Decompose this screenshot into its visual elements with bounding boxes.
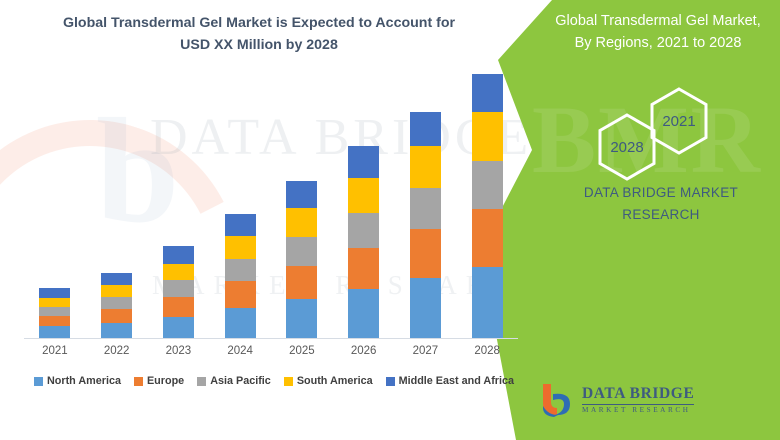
stacked-bar-2024 [225, 214, 256, 338]
legend-item[interactable]: Asia Pacific [197, 375, 271, 387]
hexagon-badge-2028: 2028 [596, 112, 658, 182]
bar-segment [286, 181, 317, 208]
legend-item[interactable]: Middle East and Africa [386, 375, 514, 387]
bar-segment [410, 188, 441, 229]
x-axis-label-2027: 2027 [403, 345, 447, 357]
bar-segment [286, 237, 317, 266]
bar-segment [225, 214, 256, 236]
bar-segment [163, 280, 194, 297]
bar-column [342, 60, 386, 338]
bar-segment [286, 208, 317, 237]
data-bridge-logo-mark [540, 382, 574, 418]
bar-segment [286, 299, 317, 338]
panel-title-line-2: By Regions, 2021 to 2028 [540, 32, 776, 54]
logo-sub-text: MARKET RESEARCH [582, 407, 694, 415]
bar-segment [39, 298, 70, 307]
bar-segment [472, 209, 503, 267]
x-axis-label-2022: 2022 [95, 345, 139, 357]
bar-segment [101, 309, 132, 323]
x-axis-line [24, 338, 518, 339]
bar-segment [286, 266, 317, 300]
bar-series-container [24, 60, 518, 338]
x-axis-label-2028: 2028 [465, 345, 509, 357]
x-axis-label-2023: 2023 [156, 345, 200, 357]
bar-segment [225, 308, 256, 338]
stacked-bar-2025 [286, 181, 317, 338]
bar-column [95, 60, 139, 338]
headline-line-2: USD XX Million by 2028 [44, 34, 474, 56]
bar-segment [472, 112, 503, 162]
stacked-bar-2026 [348, 146, 379, 338]
bar-column [280, 60, 324, 338]
x-axis-labels: 20212022202320242025202620272028 [24, 345, 518, 357]
panel-title: Global Transdermal Gel Market, By Region… [540, 10, 776, 55]
bar-segment [163, 297, 194, 317]
bar-segment [410, 146, 441, 188]
bar-column [156, 60, 200, 338]
bar-column [465, 60, 509, 338]
bar-segment [348, 146, 379, 178]
bar-segment [163, 317, 194, 338]
stacked-bar-2021 [39, 288, 70, 338]
bar-segment [410, 229, 441, 279]
bar-segment [348, 248, 379, 290]
bar-segment [163, 246, 194, 264]
bar-segment [225, 281, 256, 308]
bar-segment [410, 278, 441, 338]
bar-segment [39, 288, 70, 298]
bar-segment [101, 285, 132, 297]
bar-segment [39, 316, 70, 326]
legend-swatch [284, 377, 293, 386]
chart-legend: North AmericaEuropeAsia PacificSouth Ame… [24, 375, 524, 387]
bar-column [403, 60, 447, 338]
hexagon-badge-2028-label: 2028 [610, 139, 643, 156]
legend-swatch [197, 377, 206, 386]
data-bridge-logo: DATA BRIDGE MARKET RESEARCH [540, 382, 694, 418]
x-axis-label-2026: 2026 [342, 345, 386, 357]
stacked-bar-chart: 20212022202320242025202620272028 North A… [0, 60, 540, 350]
bar-column [218, 60, 262, 338]
bar-segment [472, 74, 503, 112]
legend-swatch [386, 377, 395, 386]
bar-segment [472, 267, 503, 338]
legend-swatch [134, 377, 143, 386]
bar-segment [225, 236, 256, 259]
x-axis-label-2025: 2025 [280, 345, 324, 357]
bar-segment [101, 323, 132, 338]
headline-line-1: Global Transdermal Gel Market is Expecte… [44, 12, 474, 34]
bar-segment [472, 161, 503, 209]
legend-label: South America [297, 375, 373, 387]
legend-swatch [34, 377, 43, 386]
legend-item[interactable]: North America [34, 375, 121, 387]
stacked-bar-2023 [163, 246, 194, 338]
bar-segment [101, 297, 132, 309]
infographic-page: b DATA BRIDGE MARKET RESEARCH DBMR Globa… [0, 0, 780, 440]
legend-label: North America [47, 375, 121, 387]
stacked-bar-2022 [101, 273, 132, 339]
panel-brand-line-2: RESEARCH [556, 204, 766, 226]
x-axis-label-2021: 2021 [33, 345, 77, 357]
legend-item[interactable]: Europe [134, 375, 184, 387]
bar-segment [410, 112, 441, 147]
logo-main-text: DATA BRIDGE [582, 386, 694, 405]
bar-segment [348, 213, 379, 248]
legend-label: Europe [147, 375, 184, 387]
stacked-bar-2027 [410, 112, 441, 338]
bar-column [33, 60, 77, 338]
bar-segment [39, 326, 70, 338]
bar-segment [225, 259, 256, 282]
hexagon-badge-2021-label: 2021 [662, 113, 695, 130]
bar-segment [348, 289, 379, 338]
panel-brand-text: DATA BRIDGE MARKET RESEARCH [556, 182, 766, 225]
bar-segment [39, 307, 70, 316]
headline: Global Transdermal Gel Market is Expecte… [44, 12, 474, 56]
panel-brand-line-1: DATA BRIDGE MARKET [556, 182, 766, 204]
legend-item[interactable]: South America [284, 375, 373, 387]
bar-segment [163, 264, 194, 281]
panel-title-line-1: Global Transdermal Gel Market, [540, 10, 776, 32]
bar-segment [101, 273, 132, 286]
bar-segment [348, 178, 379, 213]
stacked-bar-2028 [472, 74, 503, 338]
legend-label: Asia Pacific [210, 375, 271, 387]
x-axis-label-2024: 2024 [218, 345, 262, 357]
data-bridge-logo-text: DATA BRIDGE MARKET RESEARCH [582, 386, 694, 415]
legend-label: Middle East and Africa [399, 375, 514, 387]
